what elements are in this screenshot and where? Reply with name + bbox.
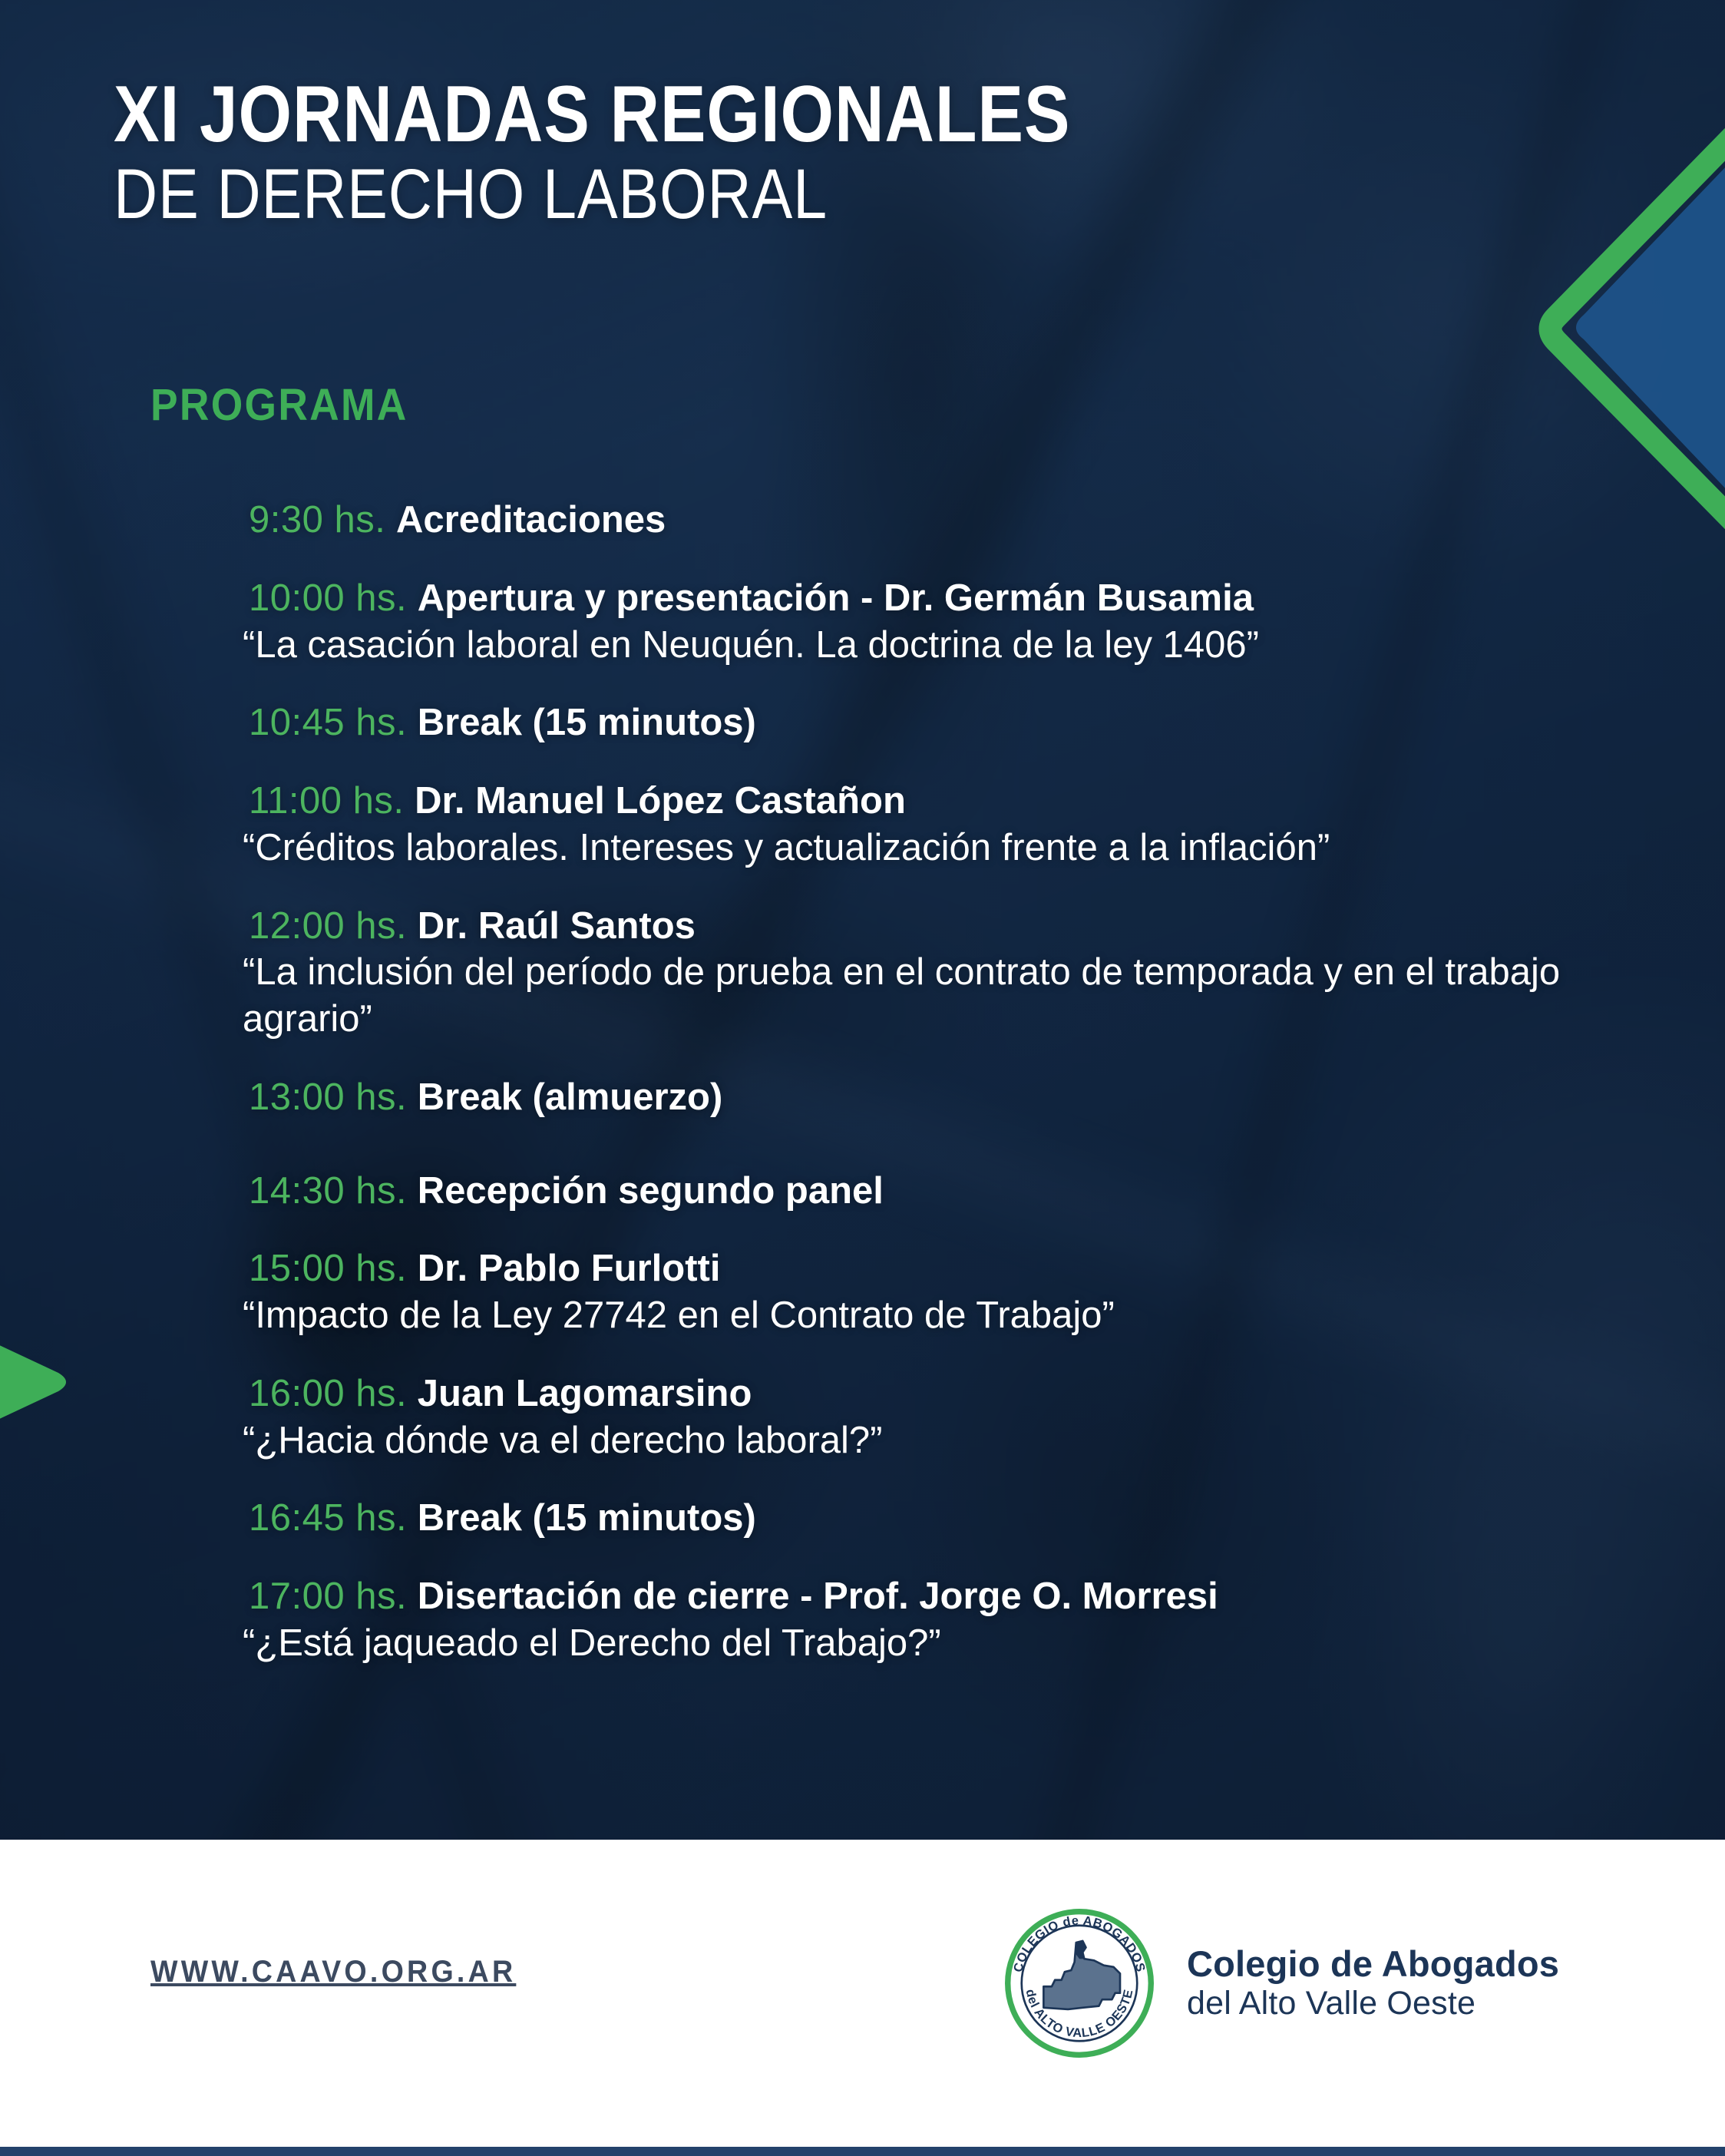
poster-title-line-2: DE DERECHO LABORAL	[114, 155, 1070, 234]
schedule-entry: 10:00 hs. Apertura y presentación - Dr. …	[249, 576, 1569, 669]
schedule-entry-title: Dr. Raúl Santos	[418, 905, 696, 947]
schedule-entry-quote: “¿Hacia dónde va el derecho laboral?”	[243, 1417, 1569, 1464]
poster-title-block: XI JORNADAS REGIONALES DE DERECHO LABORA…	[114, 74, 1226, 234]
schedule-entry-time: 9:30 hs.	[249, 499, 385, 541]
brand-name-line-2: del Alto Valle Oeste	[1187, 1985, 1559, 2023]
bottom-accent-bar	[0, 2147, 1725, 2156]
schedule-entry-quote: “La inclusión del período de prueba en e…	[243, 949, 1569, 1043]
schedule-entry-time: 10:45 hs.	[249, 702, 407, 743]
schedule-entry-title: Juan Lagomarsino	[418, 1373, 752, 1414]
schedule-entry: 13:00 hs. Break (almuerzo)	[249, 1075, 1569, 1121]
schedule-entry-time: 11:00 hs.	[249, 780, 404, 822]
schedule-list: 9:30 hs. Acreditaciones 10:00 hs. Apertu…	[249, 498, 1569, 1699]
schedule-entry: 16:00 hs. Juan Lagomarsino “¿Hacia dónde…	[249, 1371, 1569, 1464]
schedule-entry-title: Recepción segundo panel	[418, 1170, 884, 1212]
schedule-entry: 15:00 hs. Dr. Pablo Furlotti “Impacto de…	[249, 1246, 1569, 1339]
schedule-entry-quote: “¿Está jaqueado el Derecho del Trabajo?”	[243, 1620, 1569, 1667]
hero-section: XI JORNADAS REGIONALES DE DERECHO LABORA…	[0, 0, 1725, 1840]
schedule-entry-time: 13:00 hs.	[249, 1076, 407, 1118]
programa-heading: PROGRAMA	[150, 379, 408, 431]
brand-name-line-1: Colegio de Abogados	[1187, 1943, 1559, 1986]
schedule-entry-time: 14:30 hs.	[249, 1170, 407, 1212]
schedule-entry: 14:30 hs. Recepción segundo panel	[249, 1169, 1569, 1215]
schedule-entry-title: Break (15 minutos)	[418, 1497, 756, 1539]
schedule-entry-quote: “Impacto de la Ley 27742 en el Contrato …	[243, 1292, 1569, 1339]
schedule-entry-title: Disertación de cierre - Prof. Jorge O. M…	[418, 1576, 1218, 1617]
green-chevron-outline-decoration	[1502, 114, 1725, 544]
schedule-entry: 16:45 hs. Break (15 minutos)	[249, 1496, 1569, 1542]
schedule-entry: 11:00 hs. Dr. Manuel López Castañon “Cré…	[249, 779, 1569, 871]
event-program-poster: XI JORNADAS REGIONALES DE DERECHO LABORA…	[0, 0, 1725, 2156]
schedule-entry-time: 12:00 hs.	[249, 905, 407, 947]
green-arrow-decoration	[0, 1299, 74, 1465]
schedule-entry-quote: “Créditos laborales. Intereses y actuali…	[243, 825, 1569, 871]
brand-name-block: Colegio de Abogados del Alto Valle Oeste	[1187, 1943, 1559, 2023]
schedule-entry-title: Dr. Pablo Furlotti	[418, 1248, 721, 1289]
schedule-entry: 9:30 hs. Acreditaciones	[249, 498, 1569, 544]
schedule-entry-quote: “La casación laboral en Neuquén. La doct…	[243, 622, 1569, 669]
website-link[interactable]: WWW.CAAVO.ORG.AR	[150, 1955, 516, 1989]
schedule-entry-title: Break (almuerzo)	[418, 1076, 723, 1118]
schedule-entry-time: 15:00 hs.	[249, 1248, 407, 1289]
schedule-entry-title: Acreditaciones	[396, 499, 666, 541]
schedule-entry-time: 16:45 hs.	[249, 1497, 407, 1539]
schedule-entry-time: 16:00 hs.	[249, 1373, 407, 1414]
schedule-entry-title: Break (15 minutos)	[418, 702, 756, 743]
schedule-entry-title: Apertura y presentación - Dr. Germán Bus…	[418, 577, 1254, 619]
schedule-entry-time: 10:00 hs.	[249, 577, 407, 619]
poster-title-line-1: XI JORNADAS REGIONALES	[114, 74, 1070, 155]
schedule-entry-time: 17:00 hs.	[249, 1576, 407, 1617]
schedule-entry: 10:45 hs. Break (15 minutos)	[249, 700, 1569, 746]
schedule-entry: 12:00 hs. Dr. Raúl Santos “La inclusión …	[249, 904, 1569, 1043]
colegio-de-abogados-seal-icon: COLEGIO de ABOGADOS del ALTO VALLE OESTE	[998, 1902, 1161, 2065]
organization-brand: COLEGIO de ABOGADOS del ALTO VALLE OESTE…	[998, 1902, 1559, 2065]
schedule-entry-title: Dr. Manuel López Castañon	[415, 780, 906, 822]
schedule-entry: 17:00 hs. Disertación de cierre - Prof. …	[249, 1574, 1569, 1667]
